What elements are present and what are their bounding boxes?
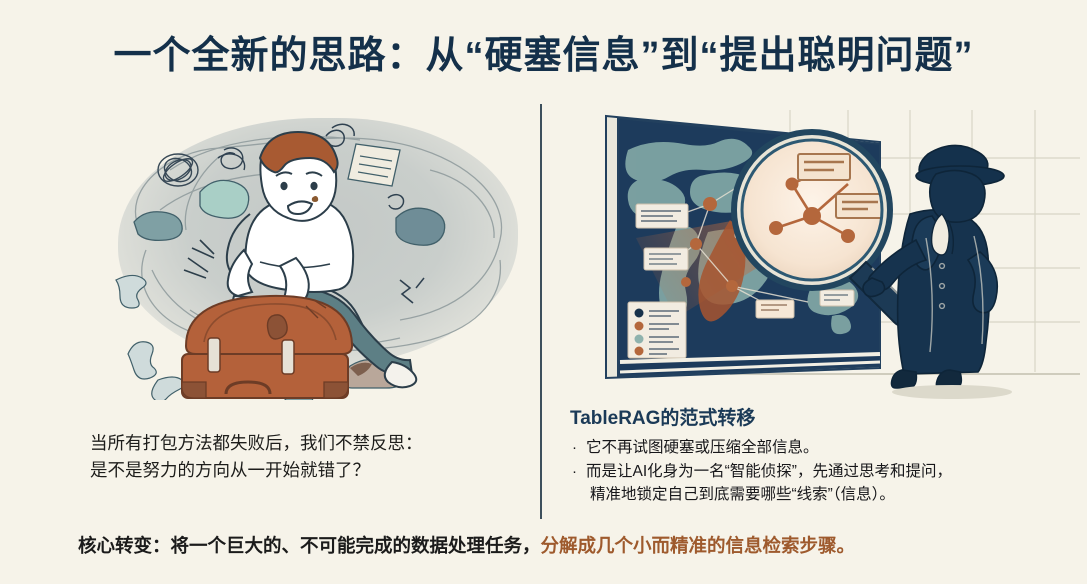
bullet-text-2: 而是让AI化身为一名“智能侦探”，先通过思考和提问， [586, 463, 952, 480]
bullet-marker-1: · [572, 437, 577, 459]
right-text-block: TableRAG的范式转移 · 它不再试图硬塞或压缩全部信息。 · 而是让AI化… [570, 403, 1070, 508]
bullet-text-1: 它不再试图硬塞或压缩全部信息。 [586, 439, 819, 456]
packing-scene-svg [100, 110, 540, 400]
bottom-accent: 分解成几个小而精准的信息检索步骤。 [541, 535, 856, 556]
page-title: 一个全新的思路：从“硬塞信息”到“提出聪明问题” [0, 24, 1087, 79]
sock-icon [116, 275, 146, 308]
bullet-item-2: · 而是让AI化身为一名“智能侦探”，先通过思考和提问， 精准地锁定自己到底需要… [570, 461, 1070, 507]
left-illustration [100, 110, 540, 400]
right-bullet-list: · 它不再试图硬塞或压缩全部信息。 · 而是让AI化身为一名“智能侦探”，先通过… [570, 437, 1070, 507]
bottom-banner: 核心转变：将一个巨大的、不可能完成的数据处理任务，分解成几个小而精准的信息检索步… [78, 534, 855, 558]
scribble-swirl-icon [218, 148, 245, 170]
left-caption-line-2: 是不是努力的方向从一开始就错了？ [90, 457, 520, 484]
notebook-icon [348, 144, 400, 186]
left-caption-line-1: 当所有打包方法都失败后，我们不禁反思： [90, 430, 520, 457]
latch-right [282, 340, 294, 374]
right-heading: TableRAG的范式转移 [570, 403, 1070, 430]
legend-card [628, 302, 686, 358]
slide-root: 一个全新的思路：从“硬塞信息”到“提出聪明问题” [0, 0, 1087, 584]
bullet-text-2-line2: 精准地锁定自己到底需要哪些“线索”（信息）。 [586, 484, 1070, 507]
detective-board-svg [580, 110, 1080, 400]
left-caption: 当所有打包方法都失败后，我们不禁反思： 是不是努力的方向从一开始就错了？ [90, 430, 520, 484]
scribble-ball-icon [158, 154, 198, 186]
latch-left [208, 338, 220, 372]
vertical-divider [540, 104, 542, 519]
bullet-marker-2: · [572, 461, 577, 483]
bullet-item-1: · 它不再试图硬塞或压缩全部信息。 [570, 437, 1070, 460]
figure-shadow [892, 385, 1012, 399]
bottom-lead: 核心转变： [78, 535, 171, 556]
bottom-normal: 将一个巨大的、不可能完成的数据处理任务， [171, 535, 541, 556]
zigzag-icon [400, 280, 413, 303]
suitcase [182, 296, 352, 400]
right-illustration [580, 110, 1080, 400]
impact-lines [184, 240, 214, 278]
